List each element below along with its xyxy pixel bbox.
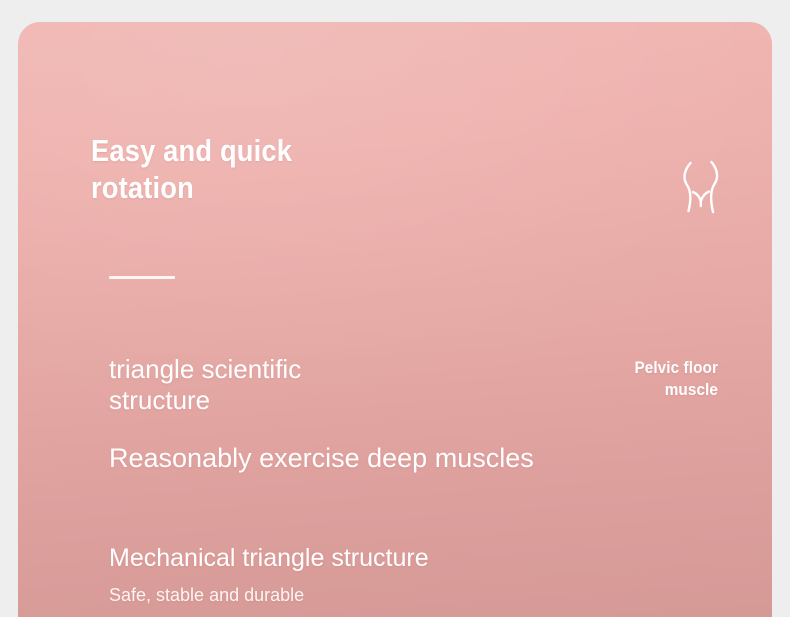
mechanical-subtitle: Safe, stable and durable bbox=[109, 584, 304, 607]
structure-subtitle: Reasonably exercise deep muscles bbox=[109, 442, 534, 475]
divider bbox=[109, 276, 175, 279]
pink-feature-card: Easy and quick rotation triangle scienti… bbox=[18, 22, 772, 617]
page-title: Easy and quick rotation bbox=[91, 132, 443, 206]
pelvic-floor-muscle-label: Pelvic floor muscle bbox=[592, 357, 718, 401]
mechanical-title: Mechanical triangle structure bbox=[109, 543, 429, 574]
pelvis-outline-icon bbox=[673, 159, 729, 221]
product-infographic: Easy and quick rotation triangle scienti… bbox=[0, 0, 790, 617]
structure-title: triangle scientific structure bbox=[109, 354, 439, 416]
